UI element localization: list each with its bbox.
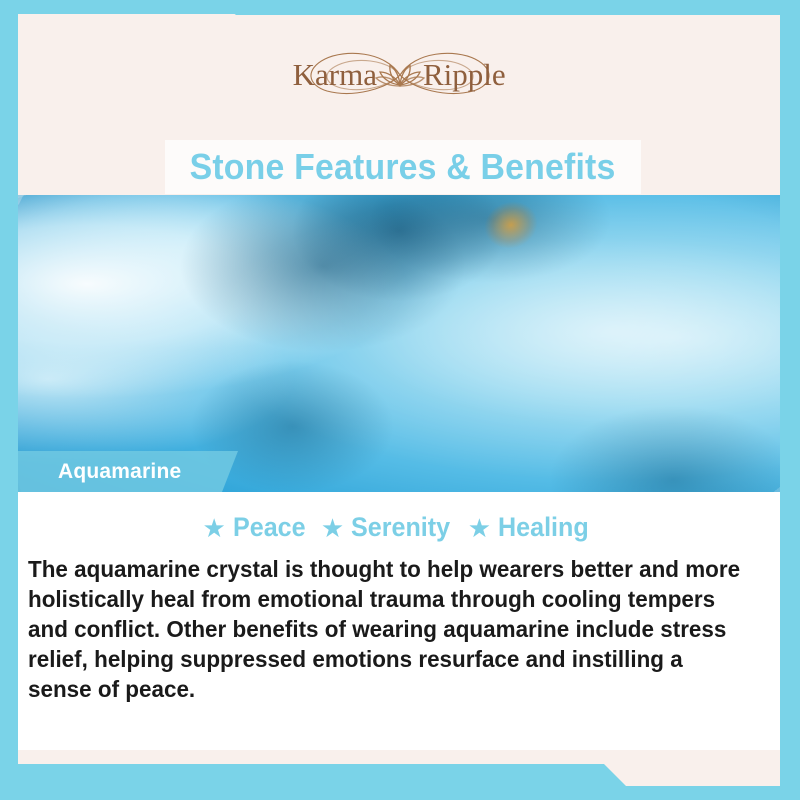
stone-name-banner: Aquamarine xyxy=(18,451,238,492)
frame-right xyxy=(780,0,800,800)
stone-name: Aquamarine xyxy=(58,460,181,484)
keyword-label: Healing xyxy=(498,512,589,543)
star-icon: ★ xyxy=(468,515,491,541)
page-title-band: Stone Features & Benefits xyxy=(165,140,641,194)
star-icon: ★ xyxy=(202,515,225,541)
logo-word-left: Karma xyxy=(293,57,378,92)
page-title: Stone Features & Benefits xyxy=(190,146,616,188)
frame-left xyxy=(0,0,18,800)
aquamarine-photo xyxy=(18,195,780,492)
keyword-item: ★ Peace xyxy=(202,512,310,543)
keyword-label: Peace xyxy=(233,512,306,543)
brand-logo: Karma Ripple xyxy=(0,36,800,114)
keyword-label: Serenity xyxy=(351,512,450,543)
frame-top-angled xyxy=(0,0,800,15)
stone-description: The aquamarine crystal is thought to hel… xyxy=(28,554,742,704)
stone-info-poster: Aquamarine Karma Ripple Stone Featur xyxy=(0,0,800,800)
content-panel: ★ Peace ★ Serenity ★ Healing The aquamar… xyxy=(18,492,780,750)
lotus-infinity-icon: Karma Ripple xyxy=(235,39,565,111)
keyword-item: ★ Serenity xyxy=(321,512,458,543)
logo-word-right: Ripple xyxy=(423,57,506,92)
keyword-item: ★ Healing xyxy=(468,512,596,543)
keyword-list: ★ Peace ★ Serenity ★ Healing xyxy=(18,512,780,543)
photo-vignette xyxy=(18,195,780,492)
star-icon: ★ xyxy=(321,515,344,541)
